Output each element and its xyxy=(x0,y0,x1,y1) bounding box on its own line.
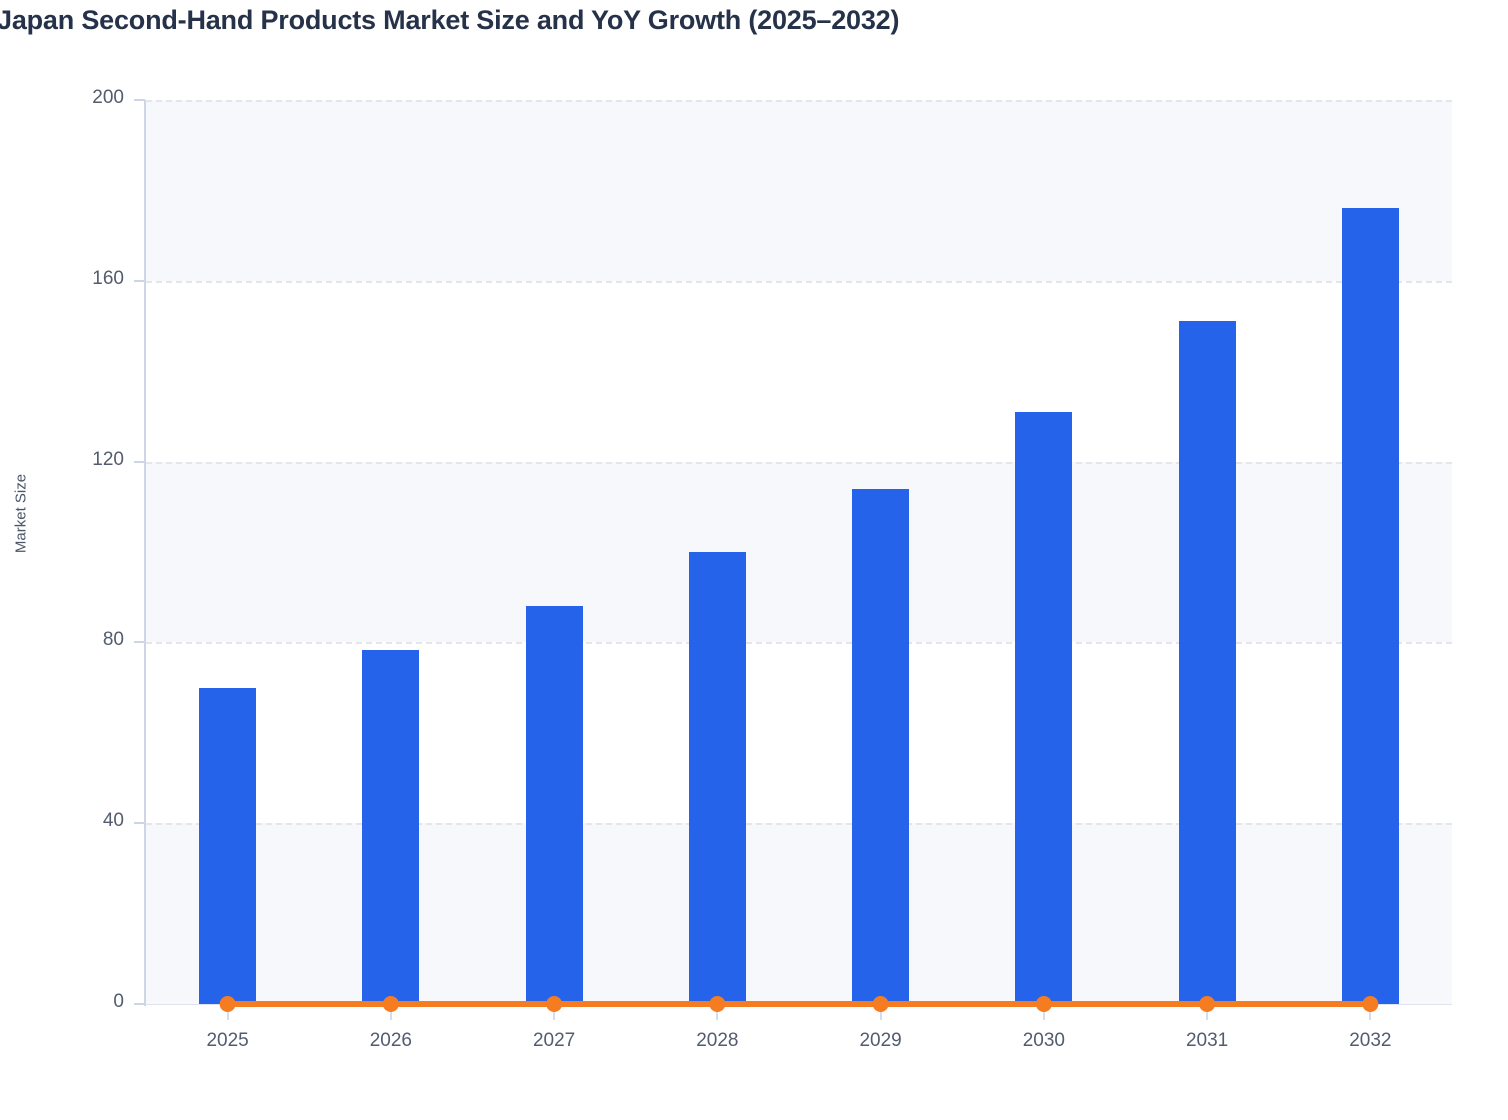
bar-2029[interactable] xyxy=(852,489,909,1004)
plot-band xyxy=(146,100,1452,281)
x-tick-mark xyxy=(716,1005,718,1020)
x-tick-mark xyxy=(390,1005,392,1020)
x-tick-label-2029: 2029 xyxy=(811,1030,951,1052)
bar-2027[interactable] xyxy=(526,606,583,1004)
x-tick-label-2032: 2032 xyxy=(1300,1030,1440,1052)
bar-2031[interactable] xyxy=(1179,321,1236,1004)
x-tick-label-2028: 2028 xyxy=(647,1030,787,1052)
x-tick-mark xyxy=(227,1005,229,1020)
bar-2025[interactable] xyxy=(199,688,256,1004)
y-tick-mark xyxy=(134,822,145,824)
y-tick-label: 160 xyxy=(24,268,124,290)
y-axis-line xyxy=(144,100,146,1006)
gridline xyxy=(146,100,1452,102)
x-tick-mark xyxy=(880,1005,882,1020)
plot-band xyxy=(146,823,1452,1004)
x-tick-mark xyxy=(1206,1005,1208,1020)
plot-area xyxy=(146,100,1452,1004)
x-tick-label-2026: 2026 xyxy=(321,1030,461,1052)
x-tick-mark xyxy=(553,1005,555,1020)
chart-title: Japan Second-Hand Products Market Size a… xyxy=(0,5,899,36)
y-tick-mark xyxy=(134,99,145,101)
gridline xyxy=(146,642,1452,644)
y-tick-label: 200 xyxy=(24,87,124,109)
x-tick-label-2027: 2027 xyxy=(484,1030,624,1052)
y-tick-mark xyxy=(134,641,145,643)
y-tick-label: 40 xyxy=(24,810,124,832)
gridline xyxy=(146,823,1452,825)
gridline xyxy=(146,281,1452,283)
x-tick-mark xyxy=(1369,1005,1371,1020)
x-tick-label-2025: 2025 xyxy=(158,1030,298,1052)
y-axis-title: Market Size xyxy=(13,454,30,574)
y-tick-mark xyxy=(134,461,145,463)
x-tick-label-2030: 2030 xyxy=(974,1030,1114,1052)
gridline xyxy=(146,462,1452,464)
x-tick-mark xyxy=(1043,1005,1045,1020)
y-tick-mark xyxy=(134,280,145,282)
bar-2032[interactable] xyxy=(1342,208,1399,1004)
y-tick-label: 0 xyxy=(24,991,124,1013)
y-tick-label: 80 xyxy=(24,629,124,651)
chart-container: Japan Second-Hand Products Market Size a… xyxy=(0,0,1508,1120)
y-tick-label: 120 xyxy=(24,449,124,471)
x-tick-label-2031: 2031 xyxy=(1137,1030,1277,1052)
y-tick-mark xyxy=(134,1003,145,1005)
bar-2028[interactable] xyxy=(689,552,746,1004)
bar-2030[interactable] xyxy=(1015,412,1072,1004)
bar-2026[interactable] xyxy=(362,650,419,1004)
plot-band xyxy=(146,462,1452,643)
